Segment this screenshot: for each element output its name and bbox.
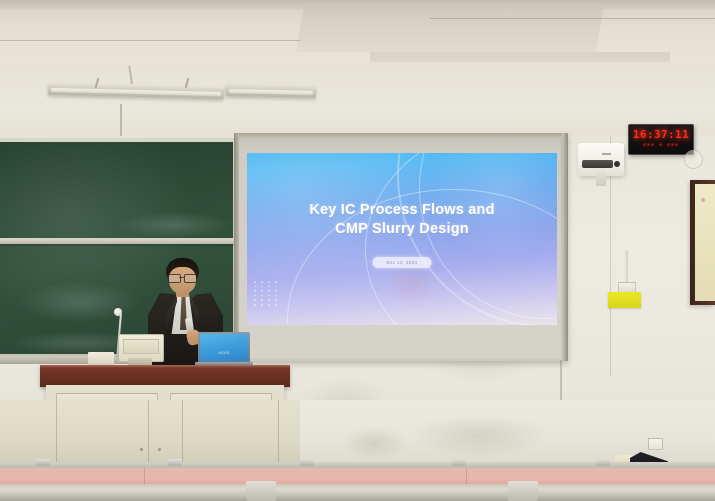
- yellow-notice-sign: [608, 292, 641, 308]
- podium-counter-top: [40, 365, 290, 387]
- wall-cabinets: [0, 400, 300, 468]
- laptop-screen: ASUS: [200, 334, 248, 361]
- chalk-smudge: [20, 282, 140, 322]
- desk-clip: [168, 459, 182, 466]
- fluorescent-tube: [51, 88, 221, 96]
- desk-clip: [452, 459, 466, 466]
- wall-mark: [410, 414, 550, 458]
- desk-clip: [36, 459, 50, 466]
- ceiling-panel-line: [0, 40, 300, 41]
- slide-dot-decoration: [254, 281, 279, 306]
- clock-time-display: 16:37:11: [629, 128, 693, 141]
- cabinet-seam: [278, 400, 279, 468]
- poster-mark: [701, 198, 705, 202]
- fluorescent-tube: [229, 89, 313, 95]
- desk-clip: [596, 459, 610, 466]
- ceiling-light-fixture: [226, 83, 316, 98]
- digital-wall-clock: 16:37:11 ▪▪▪ ▪ ▪▪▪: [628, 124, 694, 155]
- cabinet-handle[interactable]: [140, 448, 143, 451]
- chalkboard-divider-rail: [0, 238, 238, 244]
- screen-right-edge: [562, 133, 568, 361]
- poster-content: [695, 184, 715, 301]
- screen-roller-bar: [236, 133, 566, 139]
- slide-title-line-1: Key IC Process Flows and: [247, 201, 557, 220]
- desk-rail-bracket: [246, 481, 276, 501]
- ac-knob: [614, 161, 620, 167]
- slide-title-line-2: CMP Slurry Design: [247, 220, 557, 239]
- ceiling-panel-line: [430, 18, 715, 19]
- upper-wall: [0, 62, 715, 140]
- ac-indicator-icon: [602, 153, 611, 155]
- podium-control-monitor: [118, 334, 162, 366]
- screen-cord: [120, 104, 122, 140]
- chalk-smudge: [120, 212, 230, 238]
- wall-power-socket[interactable]: [648, 438, 663, 450]
- cabinet-seam: [148, 400, 149, 468]
- podium-laptop: ASUS: [198, 332, 250, 366]
- wall-fixture-round: [684, 150, 703, 169]
- clock-secondary-display: ▪▪▪ ▪ ▪▪▪: [629, 142, 693, 148]
- cabinet-handle[interactable]: [158, 448, 161, 451]
- podium-paper: [88, 352, 114, 365]
- classroom-photo: Key IC Process Flows and CMP Slurry Desi…: [0, 0, 715, 501]
- ceiling-recess: [296, 6, 604, 52]
- desk-front-rail: [0, 484, 715, 501]
- ac-vent: [582, 160, 613, 168]
- wall-mark: [340, 426, 410, 460]
- cabinet-seam: [56, 400, 57, 468]
- wall-speaker: [596, 170, 606, 186]
- laptop-lid: ASUS: [198, 332, 250, 363]
- slide-title: Key IC Process Flows and CMP Slurry Desi…: [247, 201, 557, 239]
- monitor-screen: [123, 339, 159, 354]
- projected-slide: Key IC Process Flows and CMP Slurry Desi…: [247, 153, 557, 325]
- laptop-logo: ASUS: [218, 351, 229, 355]
- desk-rail-bracket: [508, 481, 538, 501]
- podium-top-highlight: [40, 365, 290, 368]
- slide-date-badge: Dec 13, 2024: [373, 257, 432, 268]
- lower-wall: [300, 400, 715, 466]
- eyeglasses-icon: [168, 274, 197, 281]
- microphone-head-icon: [114, 308, 122, 316]
- framed-poster: [690, 180, 715, 305]
- desk-clip: [300, 459, 314, 466]
- cabinet-seam: [182, 400, 183, 468]
